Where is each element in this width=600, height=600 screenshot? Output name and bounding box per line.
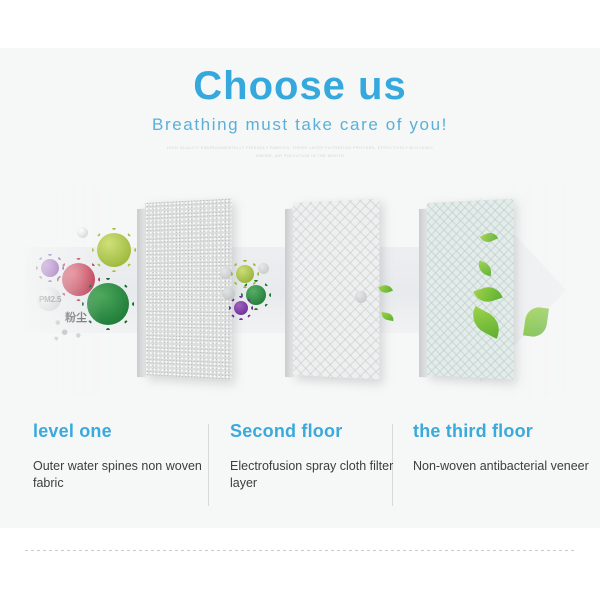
- feature-column-level-one: level one Outer water spines non woven f…: [33, 420, 213, 492]
- page-title: Choose us: [0, 60, 600, 112]
- product-feature-banner: Choose us Breathing must take care of yo…: [0, 0, 600, 600]
- header-block: Choose us Breathing must take care of yo…: [0, 60, 600, 160]
- stage-edge-fade: [25, 185, 575, 397]
- feature-column-second-floor: Second floor Electrofusion spray cloth f…: [230, 420, 410, 492]
- feature-description: Non-woven antibacterial veneer: [413, 458, 593, 475]
- top-white-band: [0, 0, 600, 48]
- feature-description: Outer water spines non woven fabric: [33, 458, 213, 492]
- microcopy-line-1: HIGH QUALITY ENVIRONMENTALLY FRIENDLY FA…: [0, 144, 600, 152]
- header-microcopy: HIGH QUALITY ENVIRONMENTALLY FRIENDLY FA…: [0, 144, 600, 160]
- feature-columns: level one Outer water spines non woven f…: [0, 420, 600, 520]
- filtration-illustration: PM2.5 粉尘: [25, 185, 575, 397]
- feature-heading: level one: [33, 420, 213, 442]
- feature-column-third-floor: the third floor Non-woven antibacterial …: [413, 420, 593, 475]
- microcopy-line-2: SMOKE, AIR POLLUTION IN THE MOUTH: [0, 152, 600, 160]
- feature-description: Electrofusion spray cloth filter layer: [230, 458, 410, 492]
- feature-heading: the third floor: [413, 420, 593, 442]
- feature-heading: Second floor: [230, 420, 410, 442]
- section-divider: [25, 550, 575, 551]
- page-subtitle: Breathing must take care of you!: [0, 112, 600, 138]
